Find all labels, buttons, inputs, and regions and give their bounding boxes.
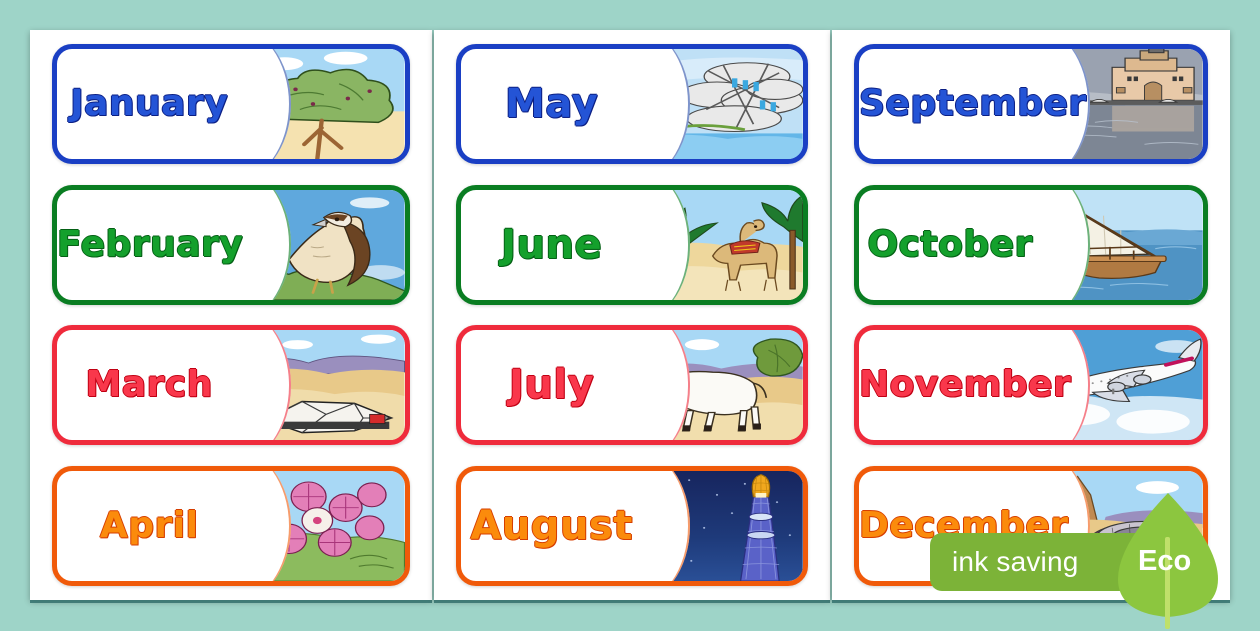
page-sheet-1: January <box>30 30 432 600</box>
month-label-september: September <box>859 86 1041 122</box>
picture-curved-edge <box>241 49 290 159</box>
camel-and-palm-trees-illustration <box>642 190 803 300</box>
month-card-march[interactable]: March <box>52 325 410 445</box>
month-card-august[interactable]: August <box>456 466 808 586</box>
sheet-bottom-edge <box>434 600 830 603</box>
month-picture-july <box>642 330 803 440</box>
picture-curved-edge <box>241 330 290 440</box>
desert-tent-building-illustration <box>241 330 405 440</box>
picture-curved-edge <box>241 471 290 581</box>
osprey-bird-illustration <box>241 190 405 300</box>
month-picture-october <box>1041 190 1203 300</box>
month-label-august: August <box>461 506 642 546</box>
month-card-november[interactable]: November <box>854 325 1208 445</box>
eco-label: Eco <box>1138 545 1191 578</box>
month-label-march: March <box>57 367 241 403</box>
month-label-february: February <box>57 227 241 263</box>
month-label-may: May <box>461 84 642 124</box>
month-picture-june <box>642 190 803 300</box>
month-picture-february <box>241 190 405 300</box>
night-tower-illustration <box>642 471 803 581</box>
month-label-june: June <box>461 225 642 265</box>
month-label-january: January <box>57 86 241 122</box>
month-card-february[interactable]: February <box>52 185 410 305</box>
ink-saving-label: ink saving <box>952 546 1079 578</box>
month-card-june[interactable]: June <box>456 185 808 305</box>
month-picture-march <box>241 330 405 440</box>
page-sheet-2: May <box>434 30 830 600</box>
month-picture-april <box>241 471 405 581</box>
month-card-october[interactable]: October <box>854 185 1208 305</box>
ink-saving-eco-badge: ink saving Eco <box>930 533 1230 591</box>
pink-desert-flowers-illustration <box>241 471 405 581</box>
picture-curved-edge <box>241 190 290 300</box>
month-label-november: November <box>859 367 1041 403</box>
month-card-january[interactable]: January <box>52 44 410 164</box>
month-label-july: July <box>461 365 642 405</box>
dhow-sailing-boat-illustration <box>1041 190 1203 300</box>
month-card-april[interactable]: April <box>52 466 410 586</box>
arabian-oryx-illustration <box>642 330 803 440</box>
modern-museum-building-illustration <box>642 49 803 159</box>
card-column-2: May <box>434 44 830 586</box>
month-label-october: October <box>859 227 1041 263</box>
card-column-1: January <box>30 44 432 586</box>
desert-tree-illustration <box>241 49 405 159</box>
month-card-september[interactable]: September <box>854 44 1208 164</box>
sheet-bottom-edge <box>30 600 432 603</box>
month-picture-august <box>642 471 803 581</box>
month-picture-january <box>241 49 405 159</box>
month-card-july[interactable]: July <box>456 325 808 445</box>
screenshot-stage: January <box>0 0 1260 630</box>
month-picture-may <box>642 49 803 159</box>
month-label-april: April <box>57 508 241 544</box>
month-card-may[interactable]: May <box>456 44 808 164</box>
